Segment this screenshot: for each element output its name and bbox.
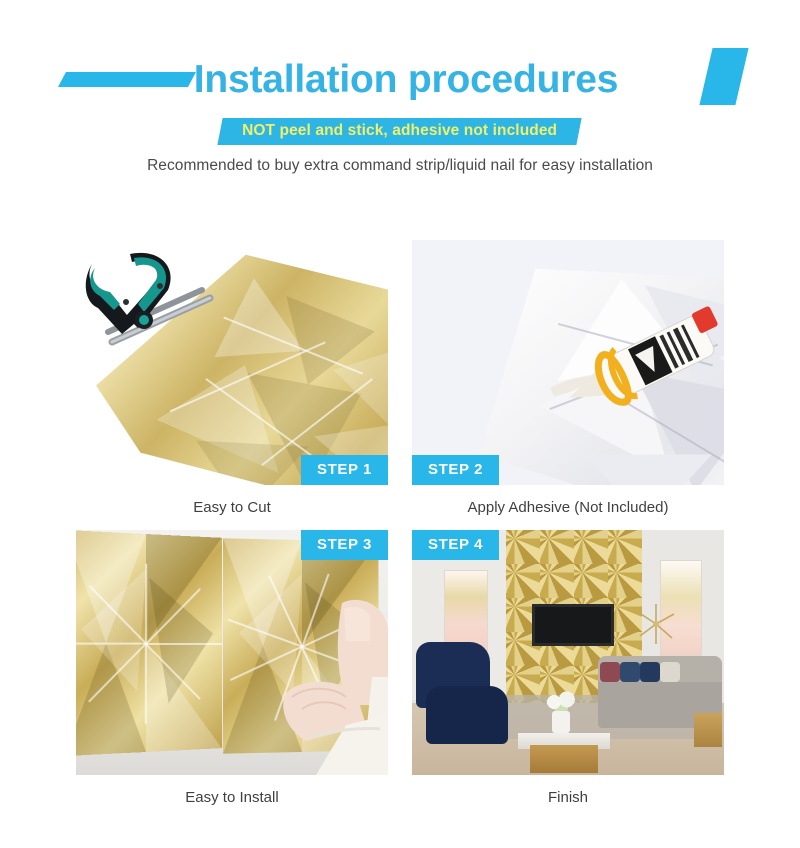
header: Installation procedures NOT peel and sti… — [0, 48, 800, 228]
title-row: Installation procedures — [0, 48, 800, 110]
facet-edge — [145, 564, 147, 644]
step-4-photo: STEP 4 — [412, 530, 724, 775]
armchair-navy-2 — [426, 686, 508, 744]
living-room-scene — [412, 530, 724, 775]
page-title: Installation procedures — [182, 60, 619, 99]
step-card-2[interactable]: STEP 2 Apply Adhesive (Not Included) — [412, 240, 724, 516]
hands-icon — [246, 585, 388, 775]
step-3-caption: Easy to Install — [76, 789, 388, 806]
step-1-caption: Easy to Cut — [76, 499, 388, 516]
facet-edge — [76, 643, 146, 645]
step-2-badge: STEP 2 — [412, 455, 499, 485]
title-left-bar-decoration — [58, 72, 196, 87]
coffee-table-base — [530, 745, 598, 773]
throw-pillow — [600, 662, 620, 682]
step-1-photo: STEP 1 — [76, 240, 388, 485]
notice-banner: NOT peel and stick, adhesive not include… — [218, 118, 582, 145]
title-right-accent-decoration — [699, 48, 748, 105]
step-3-photo: STEP 3 — [76, 530, 388, 775]
adhesive-tube-icon — [540, 296, 724, 436]
fireplace-insert — [532, 604, 614, 646]
step-4-badge: STEP 4 — [412, 530, 499, 560]
sputnik-lamp-icon — [634, 602, 678, 646]
facet-edge — [145, 644, 147, 724]
throw-pillow — [620, 662, 640, 682]
steps-row-bottom: STEP 3 Easy to Install — [0, 530, 800, 806]
throw-pillow — [640, 662, 660, 682]
step-card-1[interactable]: STEP 1 Easy to Cut — [76, 240, 388, 516]
steps-grid: STEP 1 Easy to Cut — [0, 240, 800, 806]
step-2-caption: Apply Adhesive (Not Included) — [412, 499, 724, 516]
facet-edge — [146, 643, 222, 645]
step-card-3[interactable]: STEP 3 Easy to Install — [76, 530, 388, 806]
subtitle: Recommended to buy extra command strip/l… — [0, 157, 800, 175]
step-2-photo: STEP 2 — [412, 240, 724, 485]
notice-banner-wrap: NOT peel and stick, adhesive not include… — [0, 116, 800, 146]
step-1-badge: STEP 1 — [301, 455, 388, 485]
vase — [552, 711, 570, 733]
throw-pillow — [660, 662, 680, 682]
steps-row-top: STEP 1 Easy to Cut — [0, 240, 800, 516]
scissors-icon — [82, 246, 217, 366]
side-table — [694, 713, 722, 747]
step-4-caption: Finish — [412, 789, 724, 806]
step-card-4[interactable]: STEP 4 Finish — [412, 530, 724, 806]
step-3-badge: STEP 3 — [301, 530, 388, 560]
gold-diamond-tile — [76, 530, 222, 756]
notice-banner-text: NOT peel and stick, adhesive not include… — [243, 122, 558, 140]
